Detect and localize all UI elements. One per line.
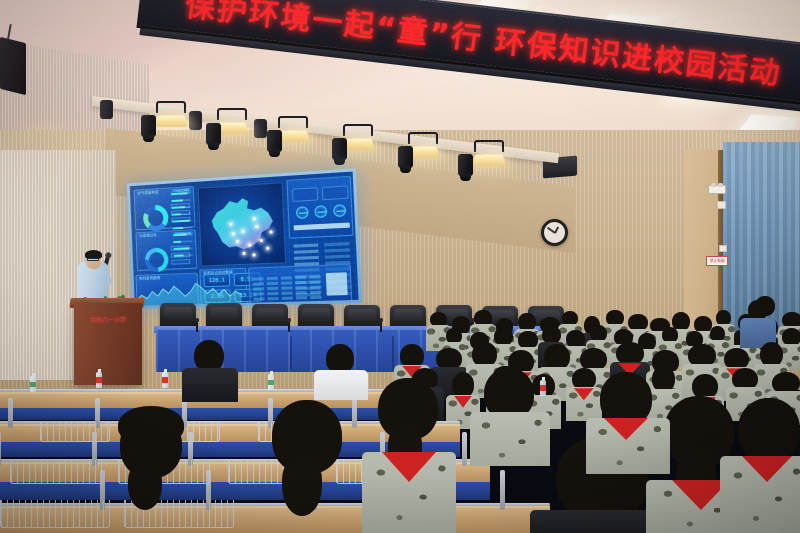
- table-cell: [253, 277, 264, 280]
- adult-body: [314, 370, 368, 400]
- bar-fill: [173, 241, 181, 243]
- moving-head-light: [332, 138, 347, 160]
- panel-region-map: [198, 182, 287, 266]
- glasses-icon: [87, 258, 99, 261]
- table-microphone: [288, 320, 290, 332]
- fresnel-yoke: [278, 116, 308, 128]
- map-marker: [241, 230, 244, 233]
- table-cell: [310, 296, 322, 299]
- map-marker: [260, 239, 263, 242]
- fresnel-yoke: [343, 124, 373, 136]
- fresnel-light: [471, 154, 505, 165]
- moving-head-light: [267, 130, 282, 152]
- table-cell: [282, 297, 293, 300]
- seat-divider: [500, 470, 505, 510]
- par-can-light: [254, 119, 267, 138]
- emergency-light-icon: [708, 185, 726, 194]
- gauge-icon: [314, 205, 327, 218]
- table-cell: [310, 291, 322, 294]
- map-marker: [269, 230, 272, 233]
- dashboard-screen: 空气质量构成 7742/24时 污染源分布 30899kw/h: [130, 172, 359, 306]
- ponytail: [282, 456, 322, 516]
- wall-plate: [717, 201, 726, 209]
- map-marker: [236, 240, 239, 243]
- foreground-head: [738, 398, 800, 462]
- table-cell: [309, 280, 321, 283]
- audience-head: [566, 330, 585, 348]
- bar-fill: [174, 254, 184, 256]
- podium-sign-text: 合水六一小学: [78, 315, 138, 324]
- ceiling-speaker-icon: [0, 37, 26, 95]
- bag-basket: [0, 500, 110, 528]
- gauge-icon: [296, 206, 309, 219]
- fresnel-yoke: [408, 132, 438, 144]
- table-cell: [295, 276, 306, 279]
- fresnel-yoke: [217, 108, 247, 120]
- map-marker: [248, 244, 251, 247]
- water-bottle: [30, 376, 36, 392]
- map-marker: [229, 222, 232, 225]
- water-bottle: [96, 372, 102, 388]
- table-cell: [309, 275, 321, 278]
- map-marker: [242, 252, 245, 255]
- table-cell: [295, 281, 306, 284]
- trend-area-chart: [136, 278, 242, 306]
- table-cell: [295, 286, 306, 289]
- audience-body: [470, 412, 550, 466]
- water-bottle: [540, 380, 546, 396]
- auditorium-photo: 禁止吸烟 保护环境一起“童”行 环保知识进校园活动 空气质量构成 7742/24…: [0, 0, 800, 533]
- table-cell: [253, 297, 264, 300]
- table-cell: [281, 286, 292, 289]
- ponytail: [128, 462, 162, 510]
- panel-title: 污染源分布: [139, 233, 157, 239]
- table-cell: [267, 287, 278, 290]
- seat-divider: [8, 398, 13, 428]
- table-cell: [253, 287, 264, 290]
- adult-head: [755, 296, 775, 316]
- foreground-hair: [118, 406, 184, 446]
- water-bottle: [268, 374, 274, 390]
- par-can-light: [100, 100, 113, 119]
- stat-box: [292, 187, 318, 202]
- seat-divider: [0, 432, 1, 466]
- moving-head-light: [206, 123, 221, 145]
- moving-head-light: [458, 154, 473, 176]
- led-wall-frame: 空气质量构成 7742/24时 污染源分布 30899kw/h: [127, 168, 362, 309]
- fresnel-light: [154, 115, 188, 126]
- table-cell: [267, 282, 278, 285]
- wall-plate: [719, 245, 727, 252]
- audience-head: [452, 372, 474, 398]
- table-cell: [296, 296, 307, 299]
- water-bottle: [162, 372, 168, 388]
- table-highlight: [326, 272, 348, 295]
- panel-title: 空气质量构成: [137, 190, 158, 196]
- seat-divider: [462, 432, 467, 466]
- table-cell: [267, 297, 278, 300]
- stat-box: [322, 185, 349, 200]
- fresnel-yoke: [156, 101, 186, 113]
- table-cell: [253, 282, 264, 285]
- table-microphone: [196, 320, 198, 332]
- table-cell: [281, 292, 292, 295]
- table-cell: [281, 281, 292, 284]
- mic-cable: [392, 336, 394, 370]
- table-microphone: [380, 320, 382, 332]
- donut-chart: [144, 247, 168, 272]
- map-marker: [255, 225, 258, 228]
- adult-body: [182, 368, 238, 402]
- fresnel-yoke: [474, 140, 504, 152]
- progress-bar: [294, 222, 350, 230]
- map-marker: [232, 232, 235, 235]
- bag-basket: [40, 422, 110, 442]
- seat-divider: [352, 398, 357, 428]
- table-cell: [310, 286, 322, 289]
- no-smoking-sign: 禁止吸烟: [706, 256, 728, 266]
- donut-chart: [143, 204, 169, 232]
- gauge-icon: [333, 204, 346, 217]
- audience-head: [652, 366, 675, 392]
- table-cell: [281, 276, 292, 279]
- map-marker: [252, 253, 255, 256]
- map-marker: [253, 217, 256, 220]
- map-marker: [266, 247, 269, 250]
- mic-cable: [290, 336, 292, 370]
- panel-station-stats: [286, 176, 353, 239]
- desk-front-panel: [0, 408, 420, 420]
- podium: 合水六一小学: [74, 303, 142, 385]
- table-cell: [296, 291, 307, 294]
- table-cell: [253, 292, 264, 295]
- wall-clock: [541, 219, 568, 246]
- moving-head-light: [141, 115, 156, 137]
- moving-head-light: [398, 146, 413, 168]
- legend-item: [171, 259, 190, 265]
- par-can-light: [189, 111, 202, 130]
- table-cell: [267, 292, 278, 295]
- table-cell: [267, 277, 278, 280]
- bag-basket: [10, 460, 102, 484]
